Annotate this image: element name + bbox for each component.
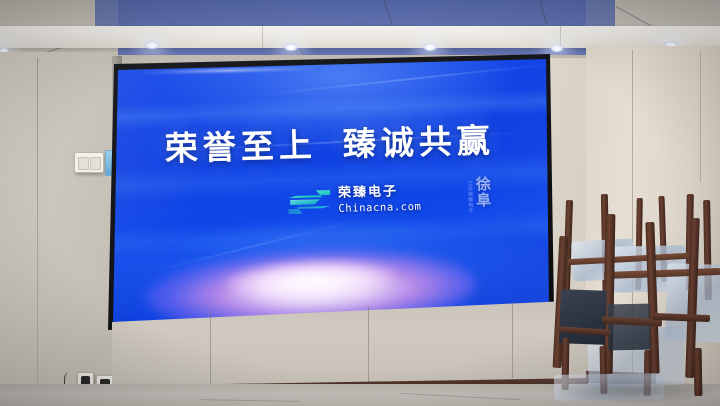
headline-left: 荣誉至上 xyxy=(164,125,317,168)
downlight-icon xyxy=(144,41,160,50)
display-screen: 荣誉至上臻诚共赢 xyxy=(108,54,554,330)
downlight-icon xyxy=(549,44,565,53)
headline-right: 臻诚共赢 xyxy=(342,121,495,164)
chair-seat xyxy=(559,289,607,345)
downlight-icon xyxy=(283,43,299,52)
left-wall-panel xyxy=(0,52,118,406)
ceiling-blue-panel-upper xyxy=(95,0,615,26)
beam-seam xyxy=(262,26,263,48)
slide-headline: 荣誉至上臻诚共赢 xyxy=(108,112,553,171)
panel-seam xyxy=(368,306,369,382)
wall-seam xyxy=(700,52,701,182)
display-content: 荣誉至上臻诚共赢 xyxy=(108,54,554,330)
seal-text: 徐阜 xyxy=(475,176,491,208)
arrow-exchange-icon xyxy=(286,186,333,217)
switch-rocker[interactable] xyxy=(78,157,89,170)
downlight-icon xyxy=(422,43,438,52)
brand-url: Chinacna.com xyxy=(338,201,421,215)
stacked-chairs xyxy=(548,178,720,393)
switch-rocker[interactable] xyxy=(90,157,101,170)
seal-small-text: 江苏荣臻电子 xyxy=(466,180,472,213)
wall-seam xyxy=(37,58,38,406)
brand-name-cn: 荣臻电子 xyxy=(338,180,422,201)
panel-seam xyxy=(512,302,513,378)
led-display[interactable]: 荣誉至上臻诚共赢 xyxy=(108,54,554,330)
panel-seam xyxy=(210,310,211,384)
chair-seat xyxy=(608,304,651,351)
light-switch-plate[interactable] xyxy=(74,152,104,173)
brand-lockup: 荣臻电子 Chinacna.com xyxy=(286,179,437,225)
room-photo: 荣誉至上臻诚共赢 xyxy=(0,0,720,406)
ceiling-light-beam xyxy=(0,26,720,48)
headline-spacer xyxy=(317,156,343,157)
signature-seal: 江苏荣臻电子 徐阜 xyxy=(440,176,493,221)
brand-text: 荣臻电子 Chinacna.com xyxy=(338,180,422,215)
chair-shadow xyxy=(552,378,720,404)
